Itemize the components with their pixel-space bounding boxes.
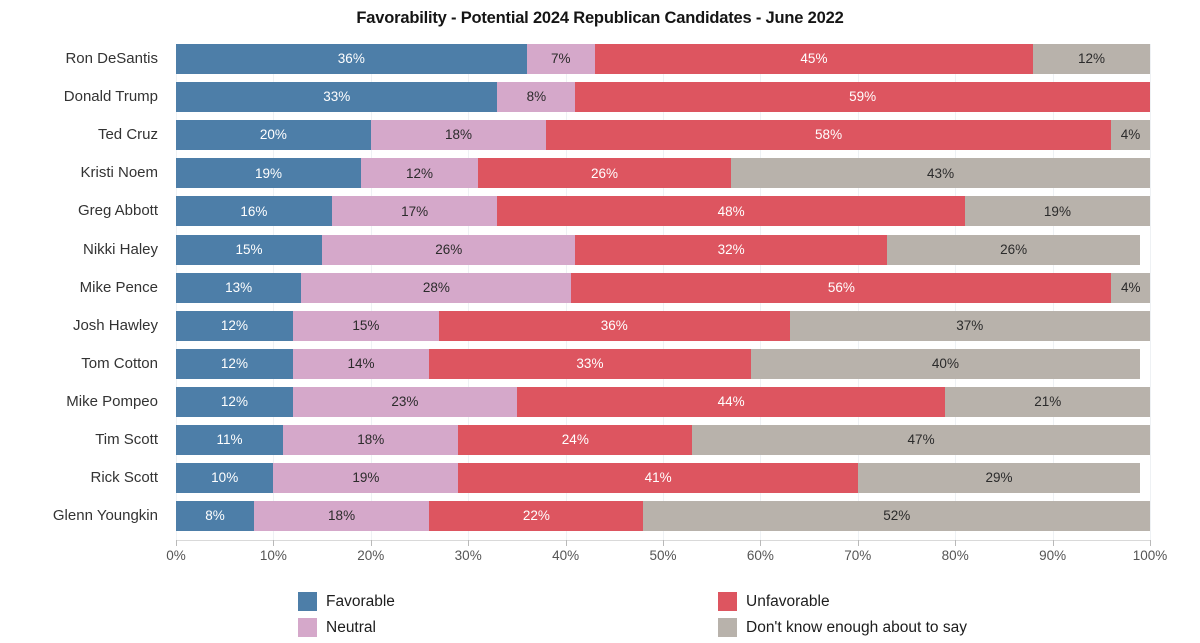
bar-segment[interactable]: 7% xyxy=(527,44,595,74)
bar-segment[interactable]: 26% xyxy=(478,158,731,188)
bar-segment[interactable]: 12% xyxy=(176,311,293,341)
y-axis-label: Tim Scott xyxy=(0,425,166,455)
favorability-stacked-bar-chart: Favorability - Potential 2024 Republican… xyxy=(0,0,1200,643)
x-axis-tick-label: 30% xyxy=(455,548,482,563)
bar-segment[interactable]: 4% xyxy=(1111,120,1150,150)
bar-segment[interactable]: 12% xyxy=(176,387,293,417)
bar-row[interactable]: 13%28%56%4% xyxy=(176,273,1150,303)
bar-segment[interactable]: 29% xyxy=(858,463,1140,493)
legend-label: Favorable xyxy=(326,593,395,611)
bar-segment[interactable]: 37% xyxy=(790,311,1150,341)
legend-label: Don't know enough about to say xyxy=(746,619,967,637)
x-axis-tick-mark xyxy=(1053,540,1054,546)
x-axis-tick-mark xyxy=(760,540,761,546)
x-axis-tick-label: 10% xyxy=(260,548,287,563)
bar-segment[interactable]: 28% xyxy=(301,273,571,303)
bar-segment[interactable]: 21% xyxy=(945,387,1150,417)
bar-segment[interactable]: 36% xyxy=(439,311,790,341)
legend-label: Neutral xyxy=(326,619,376,637)
bar-row[interactable]: 8%18%22%52% xyxy=(176,501,1150,531)
bar-segment[interactable]: 20% xyxy=(176,120,371,150)
bar-segment[interactable]: 12% xyxy=(361,158,478,188)
y-axis-label: Rick Scott xyxy=(0,463,166,493)
x-axis-tick-mark xyxy=(663,540,664,546)
bar-segment[interactable]: 33% xyxy=(176,82,497,112)
bar-segment[interactable]: 15% xyxy=(176,235,322,265)
bar-segment[interactable]: 8% xyxy=(497,82,575,112)
y-axis-label: Mike Pence xyxy=(0,273,166,303)
x-axis-tick-mark xyxy=(468,540,469,546)
bar-segment[interactable]: 33% xyxy=(429,349,750,379)
legend-item[interactable]: Neutral xyxy=(298,618,376,637)
bar-segment[interactable]: 36% xyxy=(176,44,527,74)
legend-color-swatch xyxy=(298,618,317,637)
y-axis-label: Nikki Haley xyxy=(0,235,166,265)
x-axis-tick-mark xyxy=(566,540,567,546)
x-axis-tick-label: 90% xyxy=(1039,548,1066,563)
bar-segment[interactable]: 8% xyxy=(176,501,254,531)
legend-color-swatch xyxy=(298,592,317,611)
bar-row[interactable]: 33%8%59% xyxy=(176,82,1150,112)
bar-segment[interactable]: 52% xyxy=(643,501,1149,531)
legend-label: Unfavorable xyxy=(746,593,830,611)
bar-segment[interactable]: 45% xyxy=(595,44,1033,74)
y-axis-label: Donald Trump xyxy=(0,82,166,112)
x-axis-tick-label: 20% xyxy=(357,548,384,563)
bar-segment[interactable]: 19% xyxy=(965,196,1150,226)
bar-segment[interactable]: 22% xyxy=(429,501,643,531)
x-axis-tick-mark xyxy=(858,540,859,546)
bar-segment[interactable]: 18% xyxy=(254,501,429,531)
bar-segment[interactable]: 32% xyxy=(575,235,887,265)
y-axis-label: Kristi Noem xyxy=(0,158,166,188)
plot-area: 36%7%45%12%33%8%59%20%18%58%4%19%12%26%4… xyxy=(176,44,1150,540)
bar-segment[interactable]: 18% xyxy=(283,425,458,455)
bar-segment[interactable]: 26% xyxy=(887,235,1140,265)
bar-segment[interactable]: 11% xyxy=(176,425,283,455)
bar-segment[interactable]: 24% xyxy=(458,425,692,455)
bar-row[interactable]: 12%23%44%21% xyxy=(176,387,1150,417)
bar-segment[interactable]: 15% xyxy=(293,311,439,341)
y-axis-label: Mike Pompeo xyxy=(0,387,166,417)
bar-segment[interactable]: 10% xyxy=(176,463,273,493)
x-axis-tick-label: 80% xyxy=(942,548,969,563)
x-axis-tick-label: 50% xyxy=(649,548,676,563)
legend-color-swatch xyxy=(718,618,737,637)
bar-row[interactable]: 36%7%45%12% xyxy=(176,44,1150,74)
chart-title: Favorability - Potential 2024 Republican… xyxy=(0,9,1200,28)
stacked-bar-rows: 36%7%45%12%33%8%59%20%18%58%4%19%12%26%4… xyxy=(176,44,1150,540)
x-axis-tick-label: 0% xyxy=(166,548,186,563)
bar-segment[interactable]: 26% xyxy=(322,235,575,265)
x-axis-tick-mark xyxy=(955,540,956,546)
bar-row[interactable]: 20%18%58%4% xyxy=(176,120,1150,150)
bar-row[interactable]: 19%12%26%43% xyxy=(176,158,1150,188)
bar-row[interactable]: 11%18%24%47% xyxy=(176,425,1150,455)
y-axis-category-labels: Ron DeSantisDonald TrumpTed CruzKristi N… xyxy=(0,44,166,540)
legend-item[interactable]: Unfavorable xyxy=(718,592,830,611)
bar-segment[interactable]: 43% xyxy=(731,158,1150,188)
legend-item[interactable]: Favorable xyxy=(298,592,395,611)
gridline xyxy=(1150,44,1151,540)
bar-segment[interactable]: 13% xyxy=(176,273,301,303)
bar-segment[interactable]: 40% xyxy=(751,349,1141,379)
bar-segment[interactable]: 47% xyxy=(692,425,1150,455)
bar-row[interactable]: 10%19%41%29% xyxy=(176,463,1150,493)
bar-row[interactable]: 12%14%33%40% xyxy=(176,349,1150,379)
x-axis-tick-label: 100% xyxy=(1133,548,1168,563)
x-axis-tick-mark xyxy=(371,540,372,546)
x-axis-tick-label: 40% xyxy=(552,548,579,563)
y-axis-label: Glenn Youngkin xyxy=(0,501,166,531)
bar-segment[interactable]: 4% xyxy=(1111,273,1150,303)
chart-legend: FavorableNeutralUnfavorableDon't know en… xyxy=(298,592,998,642)
x-axis: 0%10%20%30%40%50%60%70%80%90%100% xyxy=(176,540,1150,570)
bar-segment[interactable]: 59% xyxy=(575,82,1150,112)
bar-segment[interactable]: 41% xyxy=(458,463,857,493)
y-axis-label: Ron DeSantis xyxy=(0,44,166,74)
x-axis-tick-label: 60% xyxy=(747,548,774,563)
y-axis-label: Ted Cruz xyxy=(0,120,166,150)
bar-segment[interactable]: 23% xyxy=(293,387,517,417)
bar-row[interactable]: 12%15%36%37% xyxy=(176,311,1150,341)
bar-segment[interactable]: 16% xyxy=(176,196,332,226)
legend-item[interactable]: Don't know enough about to say xyxy=(718,618,967,637)
y-axis-label: Greg Abbott xyxy=(0,196,166,226)
bar-segment[interactable]: 17% xyxy=(332,196,498,226)
x-axis-tick-mark xyxy=(176,540,177,546)
bar-row[interactable]: 15%26%32%26% xyxy=(176,235,1150,265)
bar-row[interactable]: 16%17%48%19% xyxy=(176,196,1150,226)
bar-segment[interactable]: 44% xyxy=(517,387,946,417)
bar-segment[interactable]: 18% xyxy=(371,120,546,150)
bar-segment[interactable]: 14% xyxy=(293,349,429,379)
x-axis-tick-label: 70% xyxy=(844,548,871,563)
x-axis-tick-mark xyxy=(273,540,274,546)
bar-segment[interactable]: 58% xyxy=(546,120,1111,150)
y-axis-label: Josh Hawley xyxy=(0,311,166,341)
bar-segment[interactable]: 19% xyxy=(273,463,458,493)
bar-segment[interactable]: 12% xyxy=(176,349,293,379)
y-axis-label: Tom Cotton xyxy=(0,349,166,379)
bar-segment[interactable]: 12% xyxy=(1033,44,1150,74)
legend-color-swatch xyxy=(718,592,737,611)
bar-segment[interactable]: 19% xyxy=(176,158,361,188)
bar-segment[interactable]: 56% xyxy=(571,273,1111,303)
bar-segment[interactable]: 48% xyxy=(497,196,965,226)
x-axis-tick-mark xyxy=(1150,540,1151,546)
